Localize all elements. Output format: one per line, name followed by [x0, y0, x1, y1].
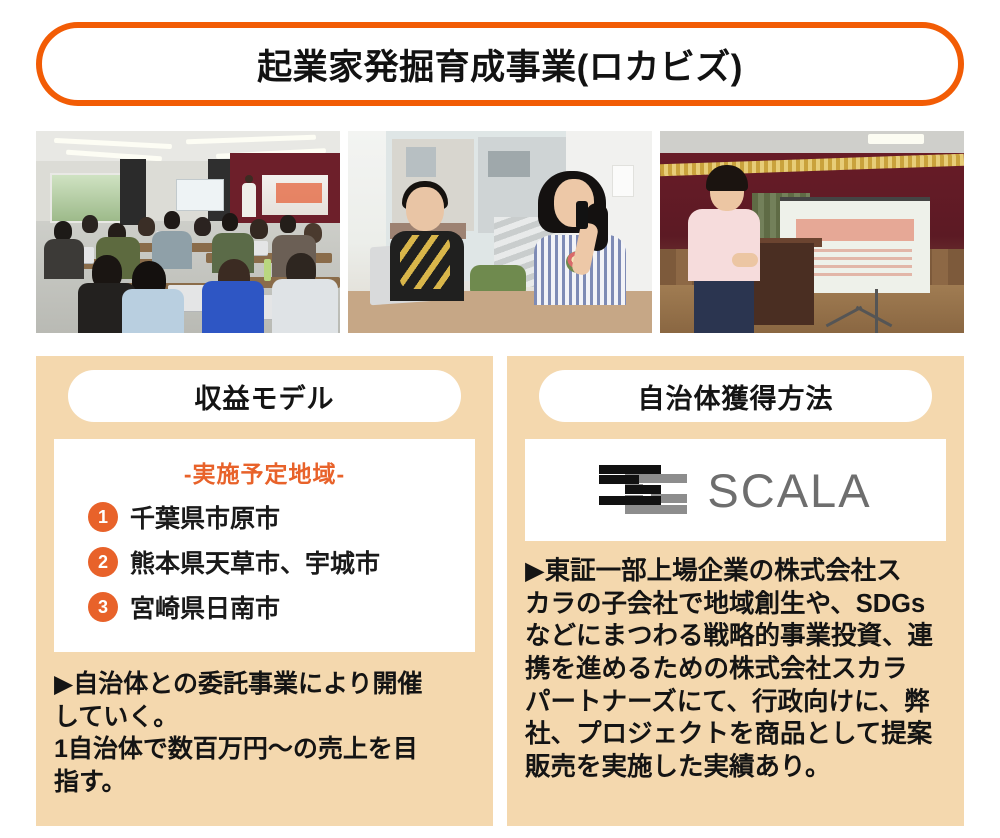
- target-regions-card: -実施予定地域- 1 千葉県市原市 2 熊本県天草市、宇城市 3 宮崎県日南市: [54, 439, 475, 652]
- number-badge-3: 3: [88, 592, 118, 622]
- photo-strip: [36, 131, 964, 333]
- scala-wordmark: SCALA: [707, 463, 871, 518]
- scala-bars-logo: [599, 465, 687, 515]
- presentation-stage-photo: [660, 131, 964, 333]
- scala-logo-card: SCALA: [525, 439, 946, 541]
- municipality-acquisition-header: 自治体獲得方法: [539, 370, 932, 422]
- revenue-model-note: ▶自治体との委託事業により開催 していく。 1自治体で数百万円〜の売上を目 指す…: [54, 668, 475, 798]
- revenue-model-header: 収益モデル: [68, 370, 461, 422]
- list-item: 1 千葉県市原市: [88, 499, 465, 535]
- number-badge-1: 1: [88, 502, 118, 532]
- municipality-acquisition-note: ▶東証一部上場企業の株式会社ス カラの子会社で地域創生や、SDGs などにまつわ…: [525, 555, 946, 783]
- seminar-room-photo: [36, 131, 340, 333]
- municipality-acquisition-header-label: 自治体獲得方法: [638, 377, 834, 416]
- revenue-model-header-label: 収益モデル: [195, 377, 335, 416]
- region-name-1: 千葉県市原市: [130, 499, 280, 535]
- page-title: 起業家発掘育成事業(ロカビズ): [257, 39, 743, 90]
- region-name-3: 宮崎県日南市: [130, 589, 280, 625]
- number-badge-2: 2: [88, 547, 118, 577]
- municipality-acquisition-panel: 自治体獲得方法 SCALA ▶東証一部上場企業の株式会社ス カラの子会社で地域創…: [507, 356, 964, 826]
- list-item: 2 熊本県天草市、宇城市: [88, 544, 465, 580]
- revenue-model-panel: 収益モデル -実施予定地域- 1 千葉県市原市 2 熊本県天草市、宇城市 3 宮…: [36, 356, 493, 826]
- target-regions-list: 1 千葉県市原市 2 熊本県天草市、宇城市 3 宮崎県日南市: [64, 499, 465, 625]
- office-consultation-photo: [348, 131, 652, 333]
- list-item: 3 宮崎県日南市: [88, 589, 465, 625]
- slide-title-banner: 起業家発掘育成事業(ロカビズ): [36, 22, 964, 106]
- target-regions-heading: -実施予定地域-: [64, 455, 465, 489]
- content-panels: 収益モデル -実施予定地域- 1 千葉県市原市 2 熊本県天草市、宇城市 3 宮…: [36, 356, 964, 826]
- region-name-2: 熊本県天草市、宇城市: [130, 544, 380, 580]
